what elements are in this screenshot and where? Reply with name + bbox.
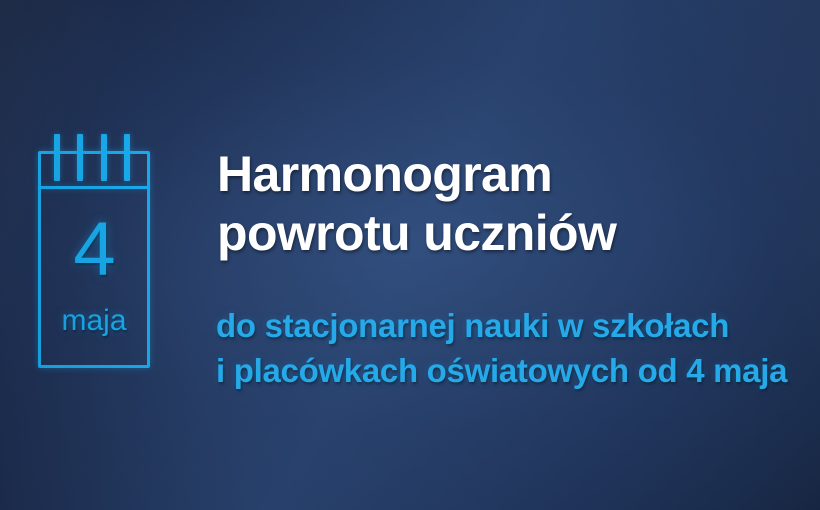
calendar-header-divider (38, 186, 150, 189)
calendar-ring-4 (124, 134, 130, 181)
subheadline: do stacjonarnej nauki w szkołach i placó… (216, 303, 816, 393)
announcement-banner: 4 maja Harmonogram powrotu uczniów do st… (0, 0, 820, 510)
calendar-ring-binding (38, 134, 150, 182)
calendar-ring-3 (101, 134, 107, 181)
calendar-ring-2 (77, 134, 83, 181)
subheadline-line-1: do stacjonarnej nauki w szkołach (216, 303, 816, 348)
calendar-month-label: maja (41, 306, 147, 336)
headline-line-1: Harmonogram (217, 145, 787, 204)
subheadline-line-2: i placówkach oświatowych od 4 maja (216, 348, 816, 393)
headline-line-2: powrotu uczniów (217, 204, 787, 263)
calendar-icon: 4 maja (38, 151, 150, 368)
headline: Harmonogram powrotu uczniów (217, 145, 787, 263)
calendar-ring-1 (54, 134, 60, 181)
calendar-day-number: 4 (41, 212, 147, 288)
